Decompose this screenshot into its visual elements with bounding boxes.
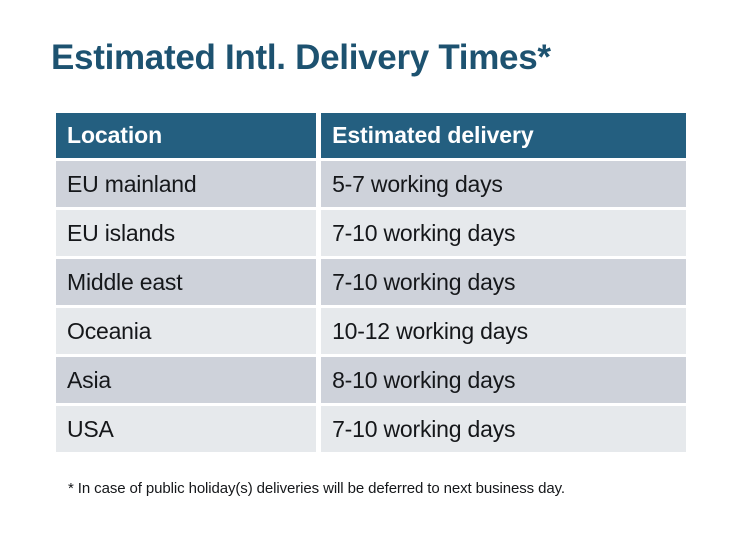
footnote-text: * In case of public holiday(s) deliverie… xyxy=(68,479,565,499)
table-header: Location Estimated delivery xyxy=(56,113,686,158)
cell-location: EU islands xyxy=(56,210,316,256)
table-row: Middle east 7-10 working days xyxy=(56,259,686,305)
table-row: Oceania 10-12 working days xyxy=(56,308,686,354)
cell-location: Oceania xyxy=(56,308,316,354)
column-header-location: Location xyxy=(56,113,316,158)
page-title: Estimated Intl. Delivery Times* xyxy=(51,36,551,80)
table-body: EU mainland 5-7 working days EU islands … xyxy=(56,161,686,452)
cell-location: Asia xyxy=(56,357,316,403)
cell-location: USA xyxy=(56,406,316,452)
table-row: EU islands 7-10 working days xyxy=(56,210,686,256)
cell-delivery: 7-10 working days xyxy=(321,210,686,256)
cell-location: Middle east xyxy=(56,259,316,305)
table-row: Asia 8-10 working days xyxy=(56,357,686,403)
delivery-times-table: Location Estimated delivery EU mainland … xyxy=(51,110,691,455)
cell-delivery: 8-10 working days xyxy=(321,357,686,403)
cell-delivery: 7-10 working days xyxy=(321,259,686,305)
cell-delivery: 5-7 working days xyxy=(321,161,686,207)
table-row: USA 7-10 working days xyxy=(56,406,686,452)
delivery-times-panel: Estimated Intl. Delivery Times* Location… xyxy=(0,0,745,536)
cell-location: EU mainland xyxy=(56,161,316,207)
cell-delivery: 10-12 working days xyxy=(321,308,686,354)
column-header-estimated-delivery: Estimated delivery xyxy=(321,113,686,158)
cell-delivery: 7-10 working days xyxy=(321,406,686,452)
table-header-row: Location Estimated delivery xyxy=(56,113,686,158)
table-row: EU mainland 5-7 working days xyxy=(56,161,686,207)
